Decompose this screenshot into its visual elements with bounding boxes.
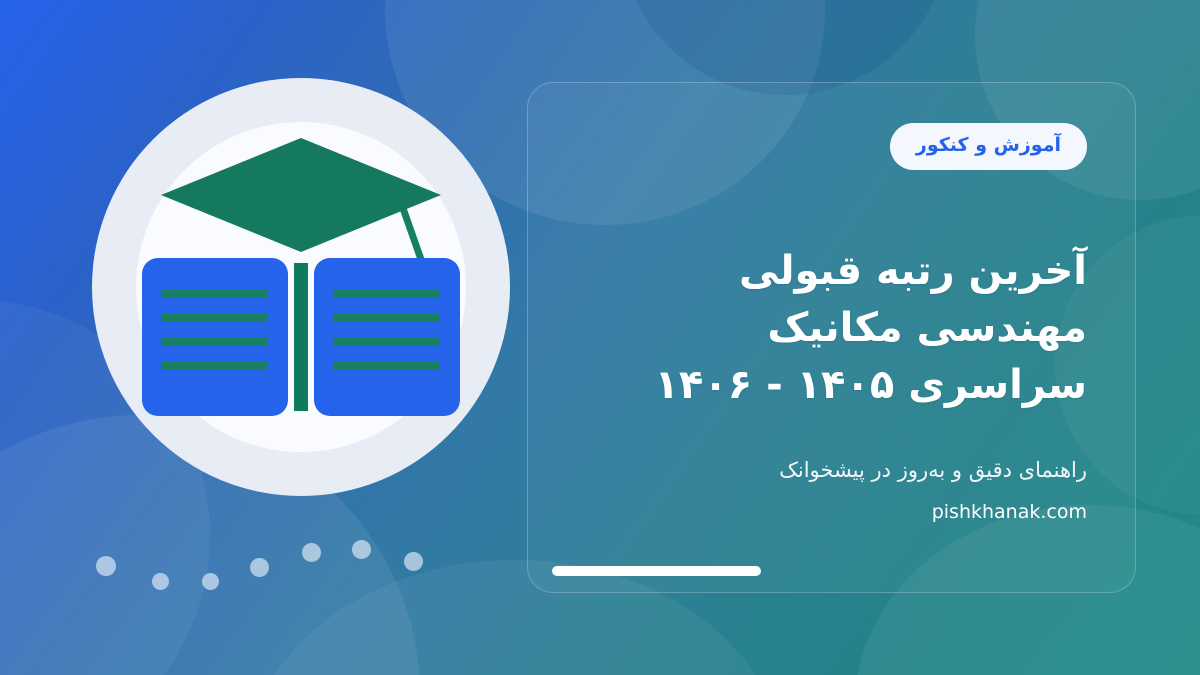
page-subtitle: راهنمای دقیق و به‌روز در پیشخوانک [576, 455, 1087, 487]
decor-dot [202, 573, 219, 590]
content-card: آموزش و کنکور آخرین رتبه قبولی مهندسی مک… [527, 82, 1136, 593]
category-badge[interactable]: آموزش و کنکور [890, 123, 1087, 170]
graduation-cap-and-open-book-icon [136, 122, 466, 452]
decor-dot [250, 558, 269, 577]
book-spine-icon [294, 263, 308, 411]
decor-dot [96, 556, 116, 576]
decor-blob-top-mid [620, 0, 950, 95]
decor-dot [302, 543, 321, 562]
page-title: آخرین رتبه قبولی مهندسی مکانیک سراسری ۱۴… [576, 243, 1087, 413]
icon-medallion [92, 78, 510, 496]
banner-canvas: آموزش و کنکور آخرین رتبه قبولی مهندسی مک… [0, 0, 1200, 675]
graduation-cap-icon [161, 138, 441, 252]
book-left-page-icon [142, 258, 288, 416]
decor-dot [352, 540, 371, 559]
decor-dot [152, 573, 169, 590]
decor-dot [404, 552, 423, 571]
site-domain: pishkhanak.com [576, 501, 1087, 523]
icon-medallion-inner [136, 122, 466, 452]
accent-bar [552, 566, 761, 576]
book-right-page-icon [314, 258, 460, 416]
